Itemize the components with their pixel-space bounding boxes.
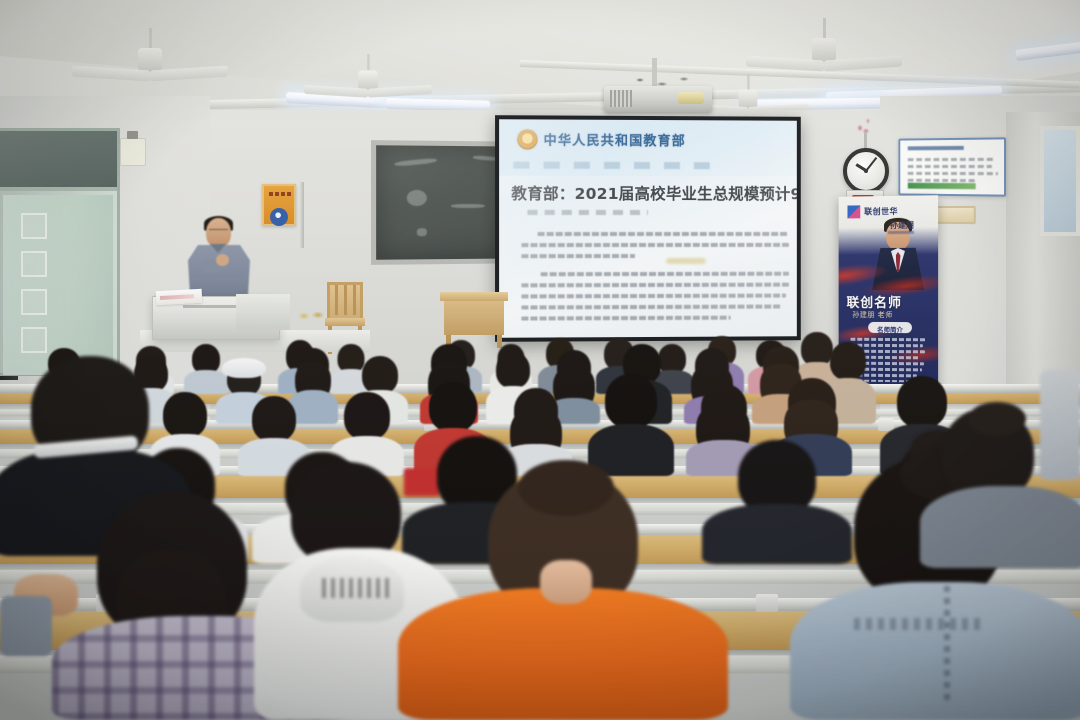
wall-clock (843, 148, 889, 194)
slide-org-header: 中华人民共和国教育部 (544, 130, 686, 150)
denim-seam (944, 586, 950, 706)
slide-text-line (521, 316, 730, 321)
chalk-mark (394, 158, 437, 167)
student (588, 374, 674, 476)
slide-navbar (513, 162, 723, 170)
podium-papers (156, 289, 203, 305)
banner-pill-label: 名师简介 (868, 324, 912, 334)
board-row (908, 158, 996, 161)
chalk-mark (451, 204, 485, 208)
student-neck (540, 560, 592, 604)
orange-notice-sign (262, 184, 296, 226)
banner-text-line (850, 338, 926, 341)
banner-person-name: 孙建朋 (890, 220, 914, 231)
slide-text-line (521, 305, 781, 310)
glasses-icon (209, 229, 228, 234)
student-head (496, 352, 530, 388)
student-head (605, 374, 657, 428)
chair-slat (335, 285, 338, 315)
student-body (920, 486, 1080, 568)
board-footer (908, 183, 976, 190)
denim-stitching (854, 618, 984, 630)
information-board (898, 137, 1006, 196)
brand-logo-icon (847, 205, 860, 218)
slide-text-line (521, 254, 634, 258)
chalk-mark (407, 190, 427, 206)
student-sleeve (0, 596, 52, 656)
banner-pill: 名师简介 (868, 322, 912, 333)
fan-rod (823, 18, 826, 40)
door-panel (21, 251, 47, 277)
board-row (908, 165, 992, 168)
transom-window (0, 131, 117, 191)
room-name-plate (935, 206, 976, 224)
right-window (1040, 126, 1080, 236)
student-head (429, 382, 477, 432)
banner-person-subtitle (888, 231, 914, 234)
slide-text-line (521, 243, 789, 247)
podium-side-unit (236, 294, 290, 330)
banner-headline: 联创名师 (846, 292, 901, 311)
student-edge (1040, 370, 1080, 480)
table-top (440, 292, 508, 301)
student-head (830, 342, 866, 380)
chair-seat (325, 318, 365, 326)
board-row (908, 179, 978, 182)
fan-rod (367, 54, 369, 72)
slide-text-line (521, 294, 786, 299)
student-body (398, 588, 728, 720)
sign-text (269, 192, 293, 196)
board-row (908, 172, 998, 175)
banner-subtitle: 孙建朋 老师 (852, 310, 892, 320)
slide-title: 教育部：2021届高校毕业生总规模预计909万人 (511, 182, 795, 204)
student-body (790, 582, 1080, 720)
lecture-hall-photo: 中华人民共和国教育部 教育部：2021届高校毕业生总规模预计909万人 (0, 0, 1080, 720)
projector-vent (610, 90, 632, 107)
baseball-cap-icon (222, 358, 266, 378)
presenter-hand (216, 254, 229, 266)
chair-slat (353, 285, 356, 315)
hoodie-graphic (322, 578, 394, 598)
student-head (362, 356, 398, 394)
slide-text-line (521, 283, 789, 288)
classroom-door[interactable] (0, 128, 120, 376)
rail-clip (756, 594, 778, 612)
door-panel (21, 289, 47, 315)
sign-pole (300, 182, 304, 248)
chair-slat (344, 285, 347, 315)
hair-bun (968, 402, 1026, 436)
slide-text-line (538, 232, 789, 236)
projector-lens-icon (678, 92, 704, 104)
student-head (252, 396, 296, 442)
hair-bun (518, 460, 614, 516)
slide-meta-line (527, 210, 648, 215)
clock-center-pin (864, 169, 868, 173)
slide-paragraph (521, 232, 789, 265)
board-title-line (908, 146, 964, 150)
student-head (344, 392, 390, 440)
desk-ornament (296, 308, 330, 324)
slide-highlight (666, 258, 706, 264)
national-emblem-icon (517, 129, 537, 149)
projection-screen: 中华人民共和国教育部 教育部：2021届高校毕业生总规模预计909万人 (495, 115, 801, 342)
wall-switch[interactable] (120, 138, 146, 166)
projector (604, 86, 712, 112)
emblem-icon (270, 208, 288, 226)
fan-rod (149, 28, 152, 50)
slide-text-line (540, 272, 789, 277)
banner-logo-text: 联创世华 (864, 206, 898, 217)
door-panel (21, 213, 47, 239)
slide-surface: 中华人民共和国教育部 教育部：2021届高校毕业生总规模预计909万人 (499, 119, 797, 338)
fan-rod (747, 74, 749, 91)
slide-paragraph (521, 272, 789, 328)
table-body (444, 301, 504, 335)
chalk-mark (417, 228, 427, 236)
